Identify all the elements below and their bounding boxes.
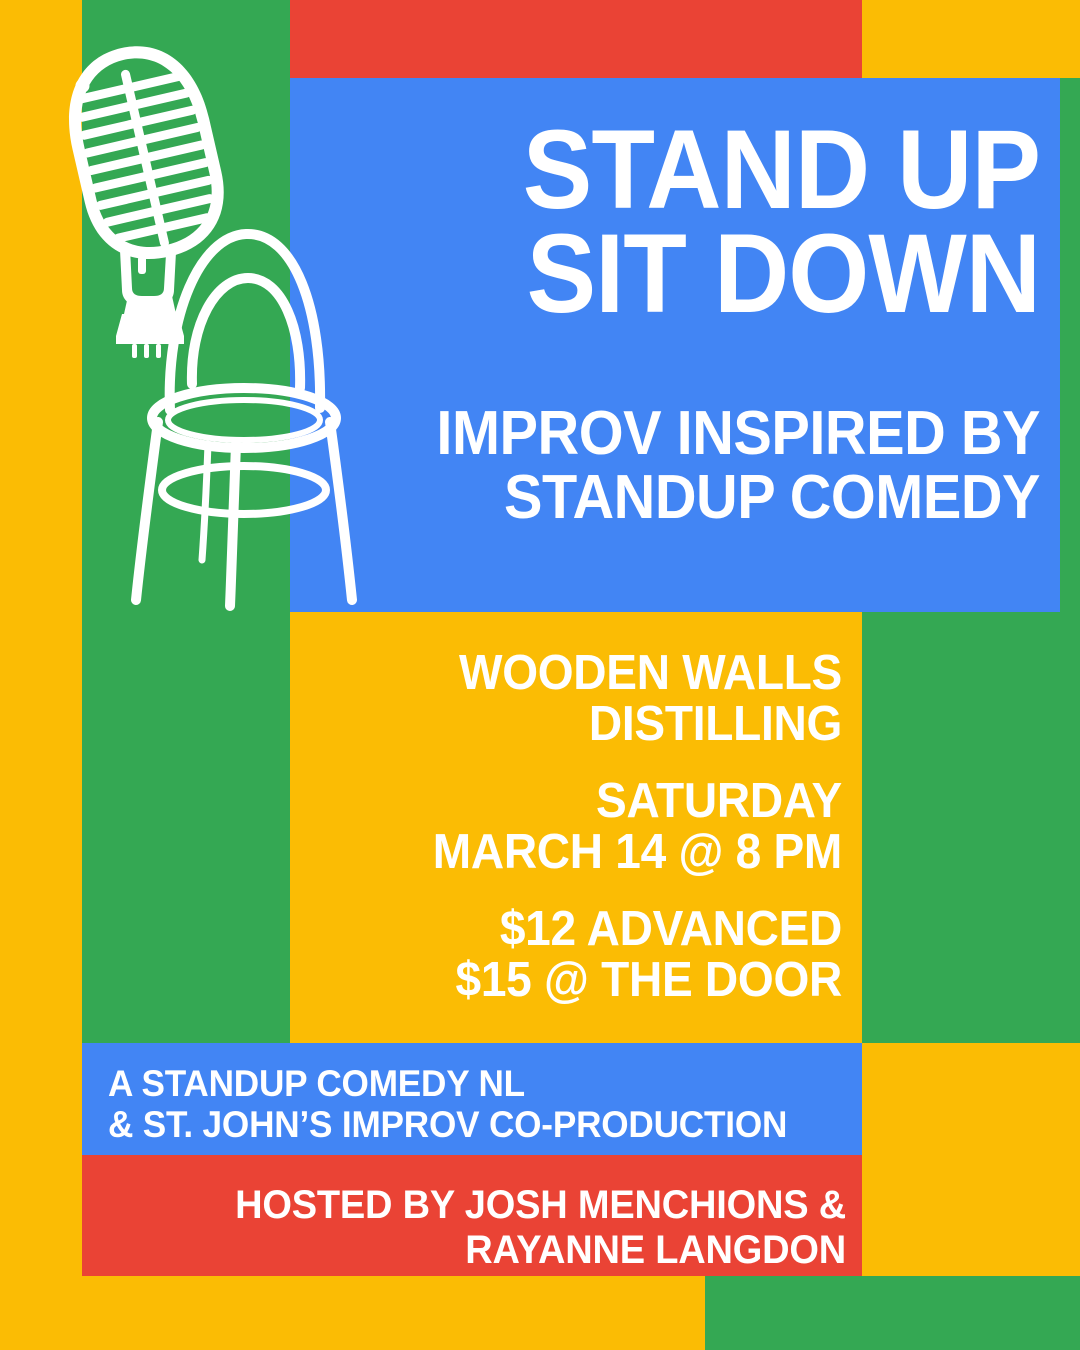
- coproduction-line-2: & ST. JOHN’S IMPROV CO-PRODUCTION: [108, 1104, 811, 1145]
- hosts-line-2: RAYANNE LANGDON: [145, 1228, 846, 1273]
- poster-canvas: STAND UP SIT DOWN IMPROV INSPIRED BY STA…: [0, 0, 1080, 1350]
- coproduction-credit: A STANDUP COMEDY NL & ST. JOHN’S IMPROV …: [108, 1063, 848, 1146]
- venue-line-2: DISTILLING: [361, 699, 842, 750]
- subtitle-line-1: IMPROV INSPIRED BY: [380, 402, 1040, 466]
- date-line-1: SATURDAY: [361, 776, 842, 827]
- title-line-1: STAND UP: [380, 118, 1040, 222]
- price-line-1: $12 ADVANCED: [361, 904, 842, 955]
- subtitle-line-2: STANDUP COMEDY: [380, 466, 1040, 530]
- background-red-top-bar: [290, 0, 862, 78]
- hosts-line-1: HOSTED BY JOSH MENCHIONS &: [145, 1183, 846, 1228]
- date-line-2: MARCH 14 @ 8 PM: [361, 827, 842, 878]
- chair-icon: [108, 212, 360, 612]
- venue-block: WOODEN WALLS DISTILLING: [330, 648, 842, 750]
- price-line-2: $15 @ THE DOOR: [361, 955, 842, 1006]
- hosts-credit: HOSTED BY JOSH MENCHIONS & RAYANNE LANGD…: [108, 1183, 846, 1273]
- poster-title: STAND UP SIT DOWN: [330, 118, 1040, 326]
- coproduction-line-1: A STANDUP COMEDY NL: [108, 1063, 811, 1104]
- background-yellow-top-right: [862, 0, 1080, 78]
- event-details: WOODEN WALLS DISTILLING SATURDAY MARCH 1…: [330, 648, 842, 1006]
- background-green-bottom: [705, 1276, 1080, 1350]
- poster-subtitle: IMPROV INSPIRED BY STANDUP COMEDY: [330, 402, 1040, 531]
- price-block: $12 ADVANCED $15 @ THE DOOR: [330, 904, 842, 1006]
- venue-line-1: WOODEN WALLS: [361, 648, 842, 699]
- date-block: SATURDAY MARCH 14 @ 8 PM: [330, 776, 842, 878]
- title-line-2: SIT DOWN: [380, 222, 1040, 326]
